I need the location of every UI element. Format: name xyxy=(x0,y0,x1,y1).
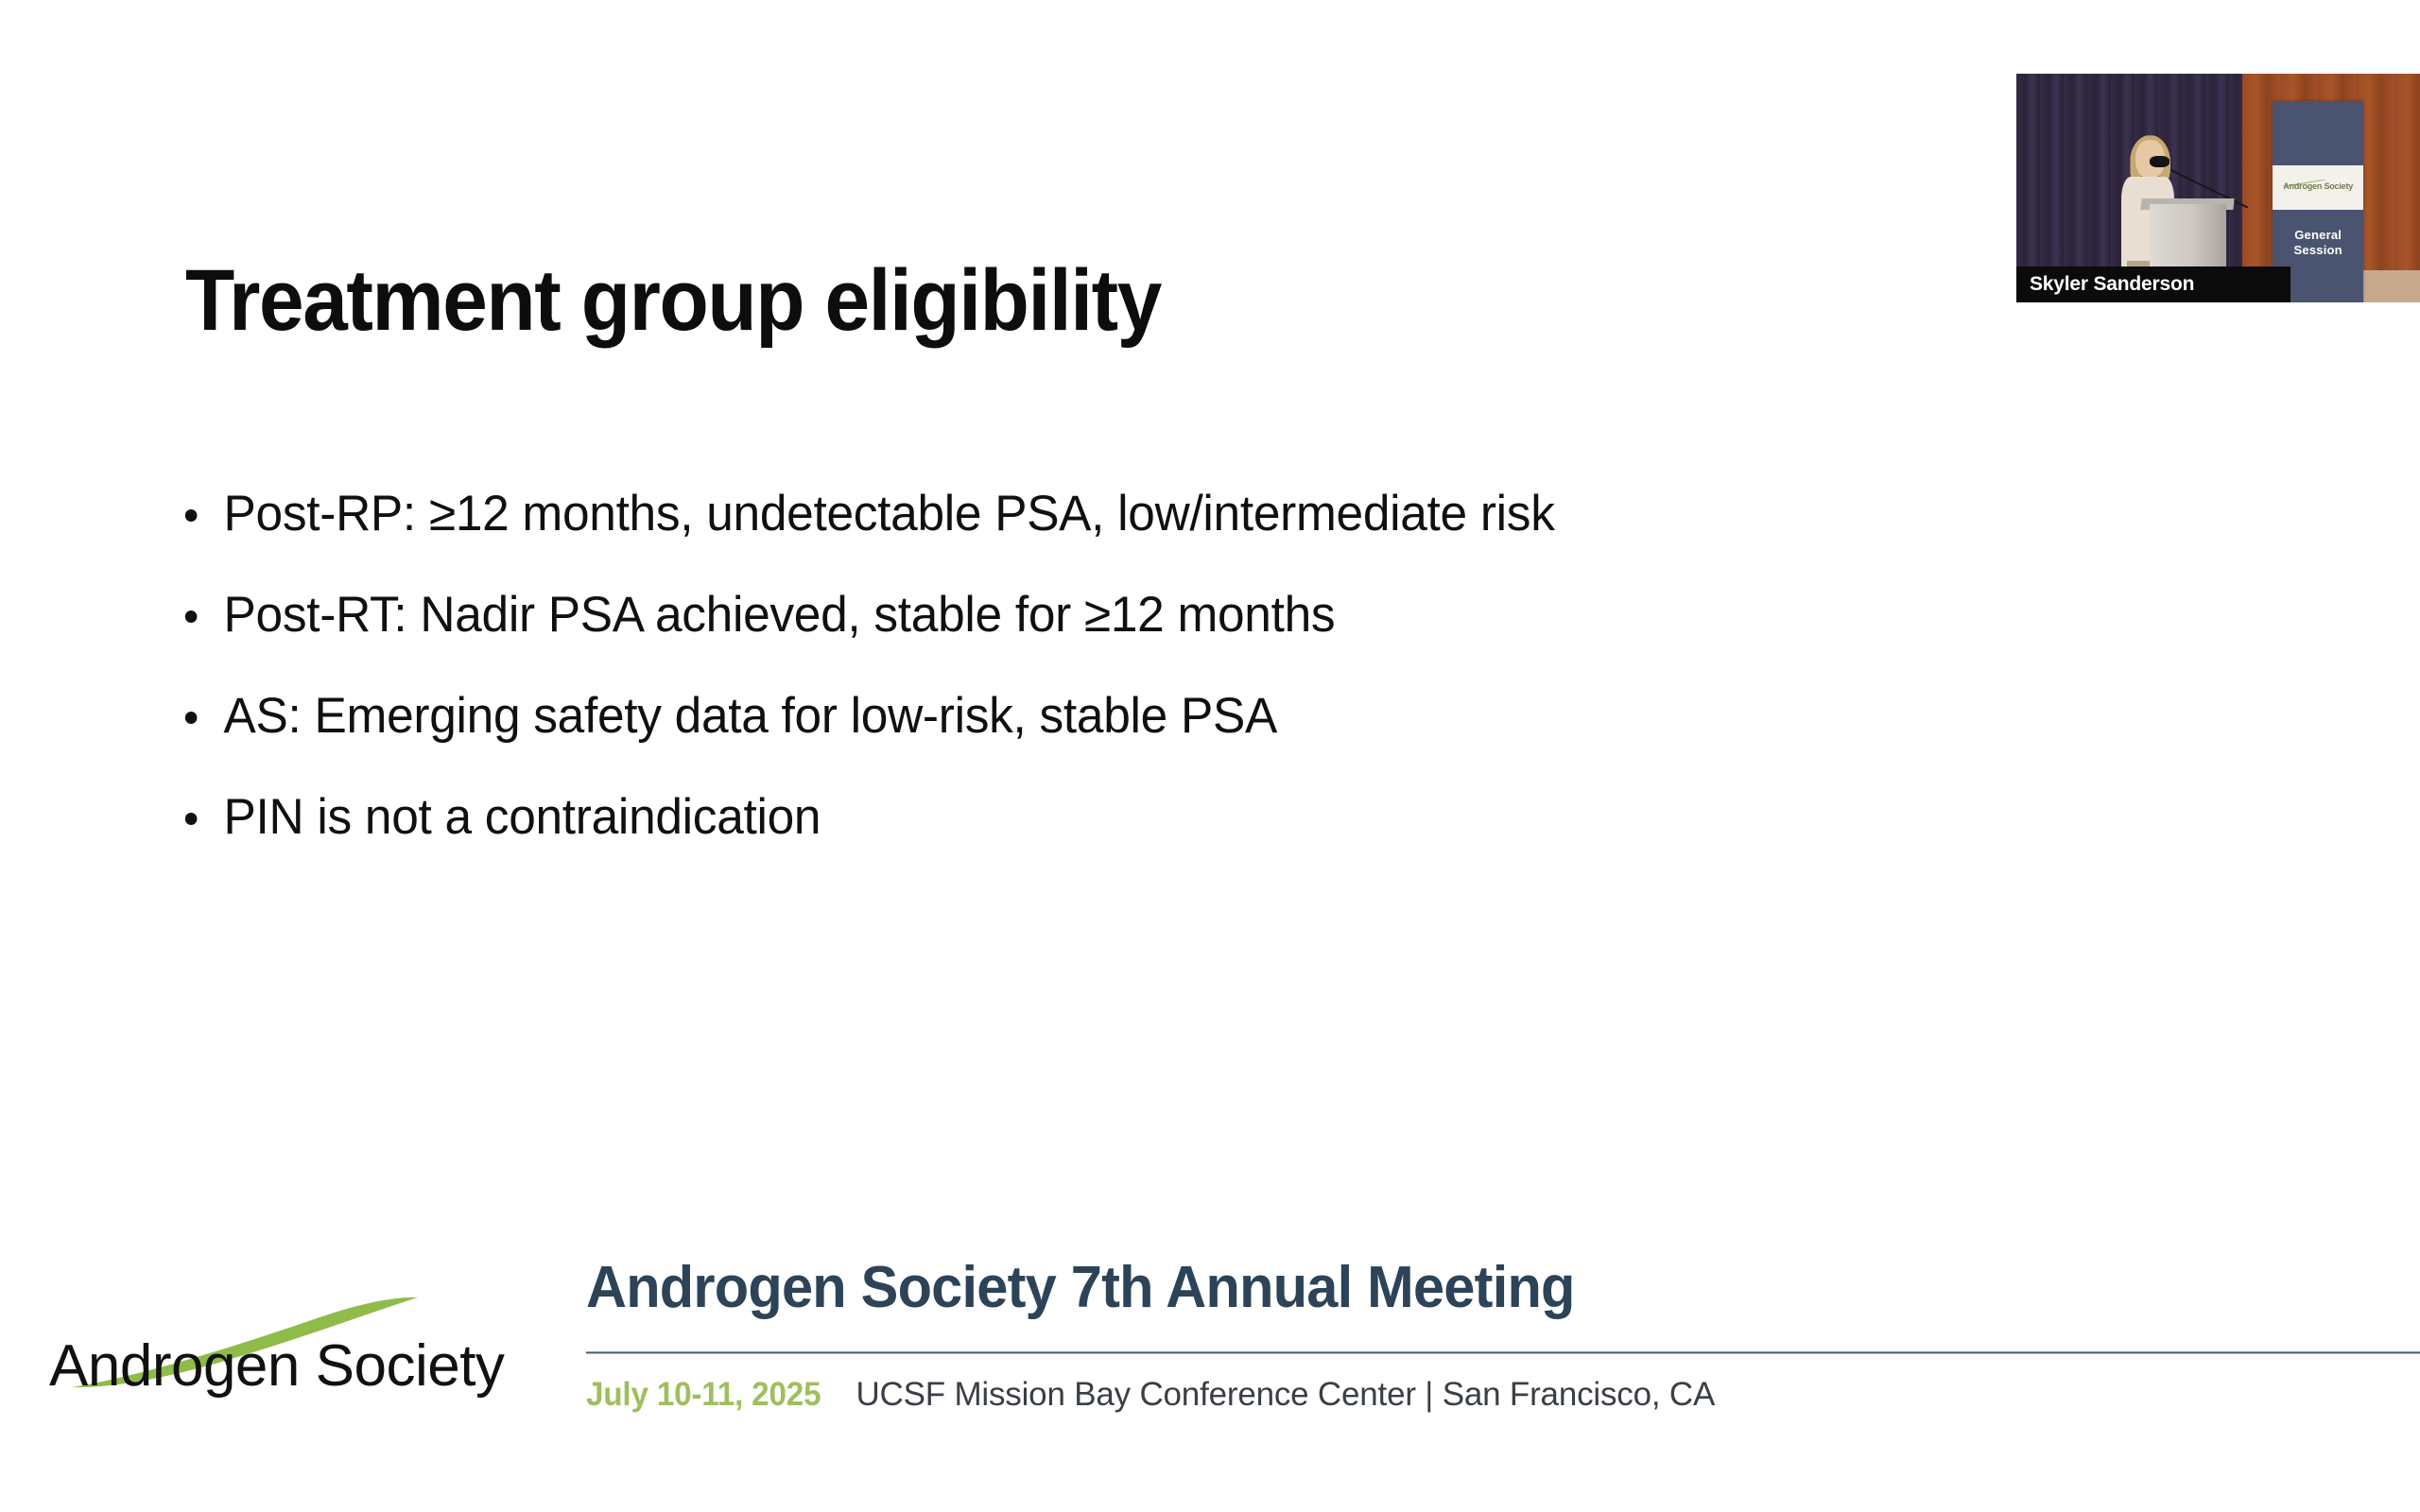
androgen-society-logo: Androgen Society xyxy=(49,1297,522,1410)
bullet-dot-icon xyxy=(185,813,198,825)
bullet-text: AS: Emerging safety data for low-risk, s… xyxy=(224,688,1277,744)
bullet-dot-icon xyxy=(185,509,198,522)
speaker-name-caption: Skyler Sanderson xyxy=(2016,266,2290,302)
meeting-dates: July 10-11, 2025 xyxy=(586,1374,821,1416)
meeting-subline: July 10-11, 2025UCSF Mission Bay Confere… xyxy=(586,1374,1715,1416)
bullet-item-1: Post-RP: ≥12 months, undetectable PSA, l… xyxy=(180,484,2179,585)
banner-logo-text: Androgen Society xyxy=(2278,181,2359,191)
bullet-text: Post-RP: ≥12 months, undetectable PSA, l… xyxy=(224,486,1555,541)
bullet-dot-icon xyxy=(185,712,198,724)
footer-divider xyxy=(586,1351,2420,1354)
speaker-video-pip[interactable]: Androgen Society GeneralSession Skyler S… xyxy=(2016,74,2420,302)
meeting-title: Androgen Society 7th Annual Meeting xyxy=(586,1257,2346,1318)
bullet-text: Post-RT: Nadir PSA achieved, stable for … xyxy=(224,587,1336,643)
bullet-dot-icon xyxy=(185,610,198,623)
banner-session-text: GeneralSession xyxy=(2273,228,2363,259)
bullet-item-3: AS: Emerging safety data for low-risk, s… xyxy=(180,686,2179,787)
bullet-item-2: Post-RT: Nadir PSA achieved, stable for … xyxy=(180,585,2179,686)
slide-title: Treatment group eligibility xyxy=(185,257,1161,344)
speaker-name: Skyler Sanderson xyxy=(2016,273,2194,296)
logo-wordmark: Androgen Society xyxy=(49,1332,504,1400)
bullet-text: PIN is not a contraindication xyxy=(224,789,821,845)
meeting-info-block: Androgen Society 7th Annual Meeting July… xyxy=(586,1257,2420,1318)
microphone-head-icon xyxy=(2150,156,2169,167)
meeting-venue: UCSF Mission Bay Conference Center | San… xyxy=(856,1376,1715,1413)
bullet-list: Post-RP: ≥12 months, undetectable PSA, l… xyxy=(180,484,2240,888)
bullet-item-4: PIN is not a contraindication xyxy=(180,787,2179,888)
presentation-slide: Treatment group eligibility Post-RP: ≥12… xyxy=(0,0,2420,1512)
